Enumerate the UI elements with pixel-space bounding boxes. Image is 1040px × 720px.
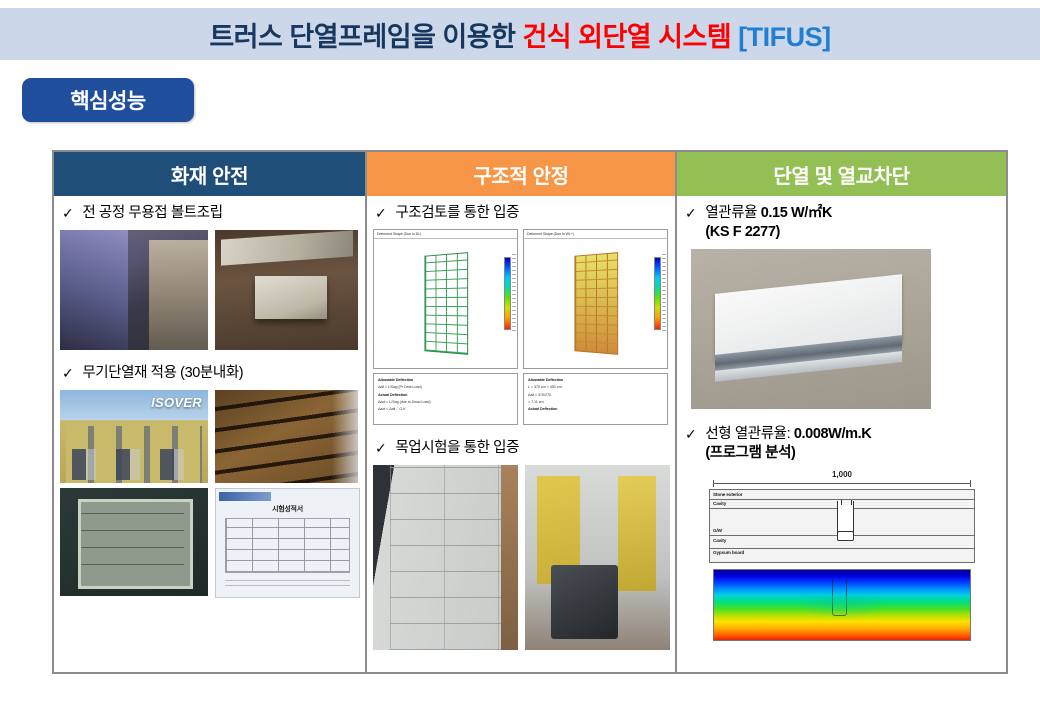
wall-section-detail-drawing: 1,000 Stone exterior Cavity G/W Cavity G… bbox=[683, 470, 1001, 641]
layer-label-gypsum-board: Gypsum board bbox=[713, 550, 744, 555]
truss-frame-base bbox=[837, 531, 854, 541]
truss-frame-section bbox=[837, 501, 854, 534]
check-icon: ✓ bbox=[685, 204, 696, 222]
column-body-thermal-insulation: ✓ 열관류율 0.15 W/㎡K (KS F 2277) ✓ 선형 열관류율: … bbox=[677, 196, 1006, 672]
check-icon: ✓ bbox=[685, 425, 696, 443]
bullet-item: ✓ 전 공정 무용접 볼트조립 bbox=[60, 202, 360, 225]
report-footnotes bbox=[225, 576, 350, 586]
dimension-label: 1,000 bbox=[683, 470, 1001, 479]
check-icon: ✓ bbox=[375, 439, 386, 457]
calc-line: Actual Deflection bbox=[378, 392, 513, 399]
bullet-item: ✓ 열관류율 0.15 W/㎡K (KS F 2277) bbox=[683, 202, 1001, 244]
title-part-2: 건식 외단열 시스템 bbox=[522, 22, 731, 52]
fea-legend-ticks bbox=[662, 254, 666, 330]
photo-row-mockup-test bbox=[373, 465, 670, 650]
bullet-text: 무기단열재 적용 (30분내화) bbox=[82, 364, 243, 383]
report-title: 시험성적서 bbox=[219, 504, 356, 514]
fea-analysis-row: Deformed Shape (Due to DL) Deformed Shap… bbox=[373, 229, 670, 369]
deflection-calc-row: Allowable Deflection Δall = L/Sag (Pr De… bbox=[373, 373, 670, 425]
u-value-standard: (KS F 2277) bbox=[705, 224, 780, 240]
column-header-structural-stability: 구조적 안정 bbox=[367, 152, 675, 196]
section-tab-label: 핵심성능 bbox=[70, 85, 145, 115]
isover-insulation-facade-photo: ISOVER bbox=[60, 390, 208, 483]
calc-line: Δall = 370/270 bbox=[528, 392, 663, 399]
layer-label-cavity-outer: Cavity bbox=[713, 501, 726, 506]
bullet-text: 선형 열관류율: 0.008W/m.K (프로그램 분석) bbox=[705, 425, 871, 463]
calc-line: Δall = L/Sag (Pr Dest Load) bbox=[378, 384, 513, 391]
fea-panel-wind-load: Deformed Shape (Due to WL+) bbox=[523, 229, 668, 369]
layer-label-glass-wool: G/W bbox=[713, 528, 722, 533]
bullet-item: ✓ 구조검토를 통한 입증 bbox=[373, 202, 670, 225]
column-thermal-insulation: 단열 및 열교차단 ✓ 열관류율 0.15 W/㎡K (KS F 2277) ✓ bbox=[677, 152, 1006, 672]
calc-line: Actual Deflection bbox=[528, 406, 663, 413]
bullet-text: 열관류율 0.15 W/㎡K (KS F 2277) bbox=[705, 204, 832, 242]
photo-row-bolted-assembly bbox=[60, 230, 360, 350]
insulation-panel-specimen-photo bbox=[691, 249, 931, 409]
calc-line: = 7.11 cm bbox=[528, 399, 663, 406]
report-header-band bbox=[219, 492, 271, 501]
fea-panel-caption: Deformed Shape (Due to WL+) bbox=[524, 230, 667, 239]
thermal-bridge-heatmap bbox=[713, 569, 971, 641]
site-installation-photo bbox=[60, 230, 208, 350]
photo-row-fire-test: 시험성적서 bbox=[60, 488, 360, 598]
layer-label-stone-exterior: Stone exterior bbox=[713, 492, 743, 497]
fea-mesh-model bbox=[424, 253, 468, 355]
section-tab-core-performance[interactable]: 핵심성능 bbox=[22, 78, 194, 122]
fea-color-legend bbox=[654, 257, 661, 330]
calc-line: Δact = L/Sag (due to Dead Load) bbox=[378, 399, 513, 406]
heatmap-isotherm-dip bbox=[791, 596, 893, 620]
column-body-fire-safety: ✓ 전 공정 무용접 볼트조립 ✓ 무기단열재 적용 (30분내화) ISOVE… bbox=[54, 196, 365, 672]
dimension-cap-right bbox=[970, 480, 971, 487]
photo-row-insulation-panel bbox=[683, 249, 1001, 409]
bolted-bracket-photo bbox=[215, 230, 358, 350]
calc-line: Δact < Δall ∴ O.K bbox=[378, 406, 513, 413]
column-header-label: 화재 안전 bbox=[171, 160, 248, 189]
psi-value-number: 0.008W/m.K bbox=[794, 426, 871, 442]
bullet-text: 구조검토를 통한 입증 bbox=[395, 204, 519, 223]
bullet-item: ✓ 무기단열재 적용 (30분내화) bbox=[60, 362, 360, 385]
check-icon: ✓ bbox=[375, 204, 386, 222]
test-report-document-photo: 시험성적서 bbox=[215, 488, 360, 598]
column-header-label: 단열 및 열교차단 bbox=[773, 160, 909, 189]
wall-layers-diagram: Stone exterior Cavity G/W Cavity Gypsum … bbox=[709, 489, 975, 563]
bullet-item: ✓ 목업시험을 통한 입증 bbox=[373, 437, 670, 460]
fire-test-specimen-photo bbox=[60, 488, 208, 596]
bullet-item: ✓ 선형 열관류율: 0.008W/m.K (프로그램 분석) bbox=[683, 423, 1001, 465]
fea-color-legend bbox=[504, 257, 511, 330]
calc-line: Allowable Deflection bbox=[378, 377, 513, 384]
fea-plot-area bbox=[374, 239, 517, 366]
deflection-table-dead-load: Allowable Deflection Δall = L/Sag (Pr De… bbox=[373, 373, 518, 425]
title-banner: 트러스 단열프레임을 이용한 건식 외단열 시스템 [TIFUS] bbox=[0, 8, 1040, 60]
check-icon: ✓ bbox=[62, 364, 73, 382]
photo-row-inorganic-insulation: ISOVER bbox=[60, 390, 360, 483]
layer-label-cavity-inner: Cavity bbox=[713, 538, 726, 543]
dimension-cap-left bbox=[713, 480, 714, 487]
isover-logo: ISOVER bbox=[151, 395, 202, 410]
fea-plot-area bbox=[524, 239, 667, 366]
core-performance-table: 화재 안전 ✓ 전 공정 무용접 볼트조립 ✓ 무기단열재 적용 (30분내화)… bbox=[52, 150, 1008, 674]
u-value-number: 0.15 W/㎡K bbox=[761, 205, 832, 221]
calc-line: L = 370 cm < 450 cm bbox=[528, 384, 663, 391]
page-title: 트러스 단열프레임을 이용한 건식 외단열 시스템 [TIFUS] bbox=[209, 15, 830, 54]
calc-line: Allowable Deflection bbox=[528, 377, 663, 384]
panel-wall-interior-photo bbox=[215, 390, 358, 483]
mockup-glasswool-framing-photo bbox=[525, 465, 670, 650]
title-part-3: [TIFUS] bbox=[731, 22, 830, 52]
column-body-structural-stability: ✓ 구조검토를 통한 입증 Deformed Shape (Due to DL)… bbox=[367, 196, 675, 672]
fea-legend-ticks bbox=[512, 254, 516, 330]
u-value-label: 열관류율 bbox=[705, 205, 760, 221]
deflection-table-wind-load: Allowable Deflection L = 370 cm < 450 cm… bbox=[523, 373, 668, 425]
fea-panel-caption: Deformed Shape (Due to DL) bbox=[374, 230, 517, 239]
title-part-1: 트러스 단열프레임을 이용한 bbox=[209, 22, 522, 52]
layer-divider bbox=[710, 548, 974, 549]
column-header-fire-safety: 화재 안전 bbox=[54, 152, 365, 196]
fea-mesh-model bbox=[574, 253, 618, 355]
bullet-text: 목업시험을 통한 입증 bbox=[395, 439, 519, 458]
column-header-thermal-insulation: 단열 및 열교차단 bbox=[677, 152, 1006, 196]
test-equipment-shape bbox=[551, 565, 618, 639]
check-icon: ✓ bbox=[62, 204, 73, 222]
bullet-text: 전 공정 무용접 볼트조립 bbox=[82, 204, 222, 223]
column-structural-stability: 구조적 안정 ✓ 구조검토를 통한 입증 Deformed Shape (Due… bbox=[367, 152, 677, 672]
fea-panel-dead-load: Deformed Shape (Due to DL) bbox=[373, 229, 518, 369]
psi-value-method: (프로그램 분석) bbox=[705, 445, 795, 461]
dimension-line bbox=[713, 480, 971, 486]
mockup-stone-facade-photo bbox=[373, 465, 518, 650]
column-fire-safety: 화재 안전 ✓ 전 공정 무용접 볼트조립 ✓ 무기단열재 적용 (30분내화)… bbox=[54, 152, 367, 672]
psi-value-label: 선형 열관류율: bbox=[705, 426, 794, 442]
report-table-grid bbox=[225, 518, 350, 573]
column-header-label: 구조적 안정 bbox=[473, 160, 568, 189]
